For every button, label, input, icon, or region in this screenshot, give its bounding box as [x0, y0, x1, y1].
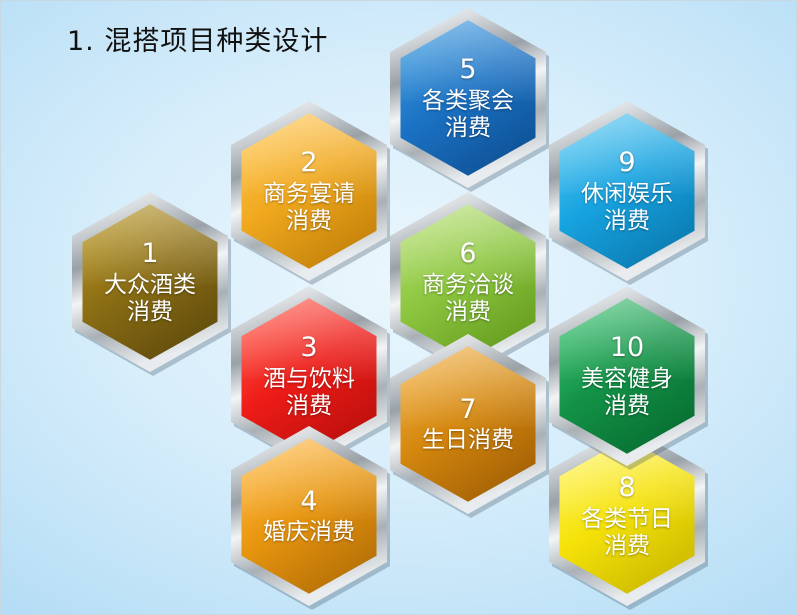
hex-cell-9[interactable]: 9休闲娱乐 消费 — [546, 98, 708, 284]
hex-cell-10[interactable]: 10美容健身 消费 — [546, 283, 708, 469]
hex-cell-2[interactable]: 2商务宴请 消费 — [228, 98, 390, 284]
hex-shape-5 — [387, 5, 549, 191]
hex-cell-4[interactable]: 4婚庆消费 — [228, 423, 390, 609]
hex-shape-2 — [228, 98, 390, 284]
hex-shape-7 — [387, 331, 549, 517]
hex-shape-4 — [228, 423, 390, 609]
hex-shape-9 — [546, 98, 708, 284]
hex-cell-5[interactable]: 5各类聚会 消费 — [387, 5, 549, 191]
page-title: 1. 混搭项目种类设计 — [67, 19, 328, 58]
slide-canvas: 1. 混搭项目种类设计 1大众酒类 消费2商务宴请 消费3酒与饮料 消费4婚庆消… — [0, 0, 797, 615]
hex-shape-1 — [69, 189, 231, 375]
hex-shape-10 — [546, 283, 708, 469]
hex-cell-1[interactable]: 1大众酒类 消费 — [69, 189, 231, 375]
hex-cell-7[interactable]: 7生日消费 — [387, 331, 549, 517]
